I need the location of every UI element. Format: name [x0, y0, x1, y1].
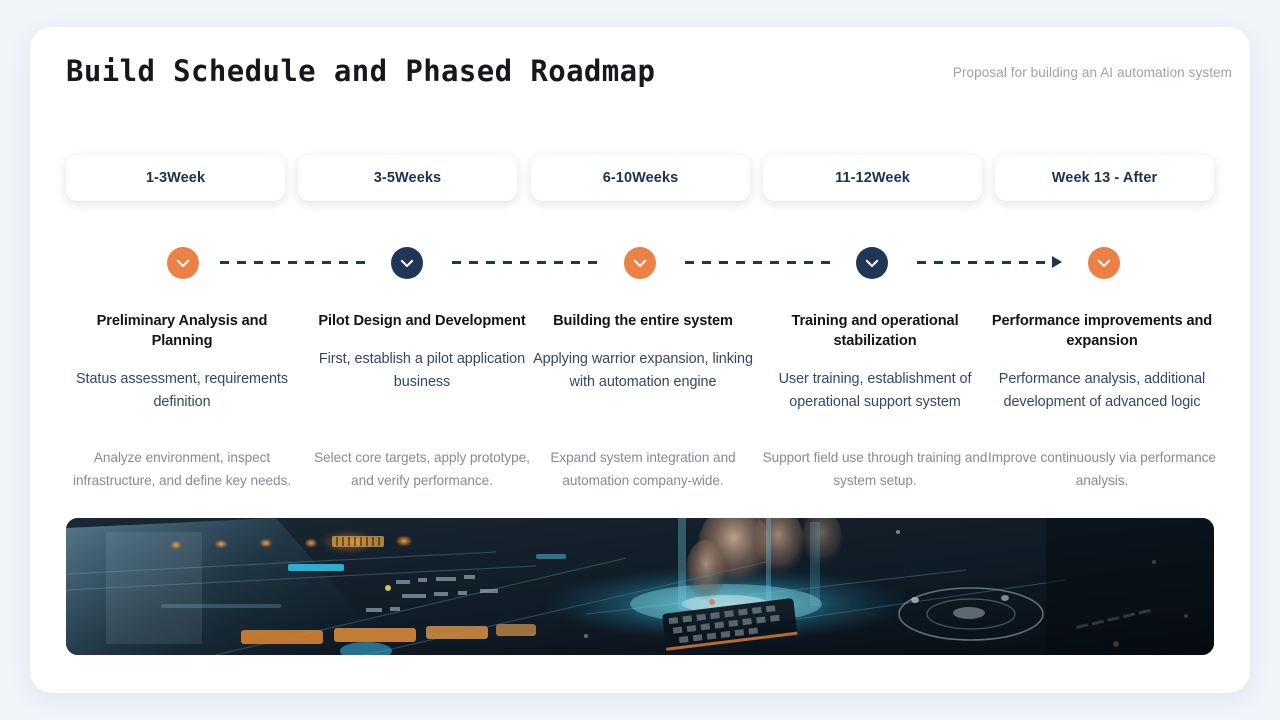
phase-columns: Preliminary Analysis and Planning Status… — [30, 311, 1250, 541]
phase-body-3: Expand system integration and automation… — [524, 446, 762, 492]
phase-title-5: Performance improvements and expansion — [983, 311, 1221, 351]
week-chip-1[interactable]: 1-3Week — [66, 155, 285, 201]
week-chip-2[interactable]: 3-5Weeks — [298, 155, 517, 201]
week-chip-row: 1-3Week 3-5Weeks 6-10Weeks 11-12Week Wee… — [30, 155, 1250, 215]
phase-title-3: Building the entire system — [524, 311, 762, 331]
page-subtitle: Proposal for building an AI automation s… — [953, 65, 1232, 80]
phase-column-4: Training and operational stabilization U… — [756, 311, 994, 414]
phase-body-1: Analyze environment, inspect infrastruct… — [66, 446, 298, 492]
check-icon — [631, 254, 649, 272]
phase-subtitle-2: First, establish a pilot application bus… — [306, 348, 538, 394]
timeline-node-2[interactable] — [391, 247, 423, 279]
phase-subtitle-4: User training, establishment of operatio… — [756, 368, 994, 414]
phase-body-4: Support field use through training and s… — [756, 446, 994, 492]
slide-header: Build Schedule and Phased Roadmap Propos… — [30, 27, 1250, 137]
timeline-node-4[interactable] — [856, 247, 888, 279]
phase-title-1: Preliminary Analysis and Planning — [66, 311, 298, 351]
arrow-right-icon — [1052, 256, 1062, 268]
check-icon — [398, 254, 416, 272]
week-chip-4[interactable]: 11-12Week — [763, 155, 982, 201]
phase-body-2: Select core targets, apply prototype, an… — [306, 446, 538, 492]
hero-image — [66, 518, 1214, 655]
tech-interface-illustration — [66, 518, 1214, 655]
roadmap-timeline: 1-3Week 3-5Weeks 6-10Weeks 11-12Week Wee… — [30, 155, 1250, 535]
timeline-node-5[interactable] — [1088, 247, 1120, 279]
check-icon — [1095, 254, 1113, 272]
check-icon — [863, 254, 881, 272]
timeline-connector-4 — [917, 261, 1052, 264]
timeline-node-1[interactable] — [167, 247, 199, 279]
timeline-connector-1 — [220, 261, 372, 264]
phase-column-2: Pilot Design and Development First, esta… — [306, 311, 538, 394]
phase-body-5: Improve continuously via performance ana… — [983, 446, 1221, 492]
week-chip-3[interactable]: 6-10Weeks — [531, 155, 750, 201]
phase-subtitle-5: Performance analysis, additional develop… — [983, 368, 1221, 414]
phase-column-5: Performance improvements and expansion P… — [983, 311, 1221, 414]
timeline-track — [30, 247, 1250, 279]
check-icon — [174, 254, 192, 272]
slide-card: Build Schedule and Phased Roadmap Propos… — [30, 27, 1250, 693]
phase-title-2: Pilot Design and Development — [306, 311, 538, 331]
timeline-connector-3 — [685, 261, 837, 264]
phase-column-3: Building the entire system Applying warr… — [524, 311, 762, 394]
timeline-node-3[interactable] — [624, 247, 656, 279]
page-title: Build Schedule and Phased Roadmap — [66, 54, 655, 88]
phase-column-1: Preliminary Analysis and Planning Status… — [66, 311, 298, 414]
week-chip-5[interactable]: Week 13 - After — [995, 155, 1214, 201]
phase-subtitle-3: Applying warrior expansion, linking with… — [524, 348, 762, 394]
phase-title-4: Training and operational stabilization — [756, 311, 994, 351]
timeline-connector-2 — [452, 261, 605, 264]
phase-subtitle-1: Status assessment, requirements definiti… — [66, 368, 298, 414]
